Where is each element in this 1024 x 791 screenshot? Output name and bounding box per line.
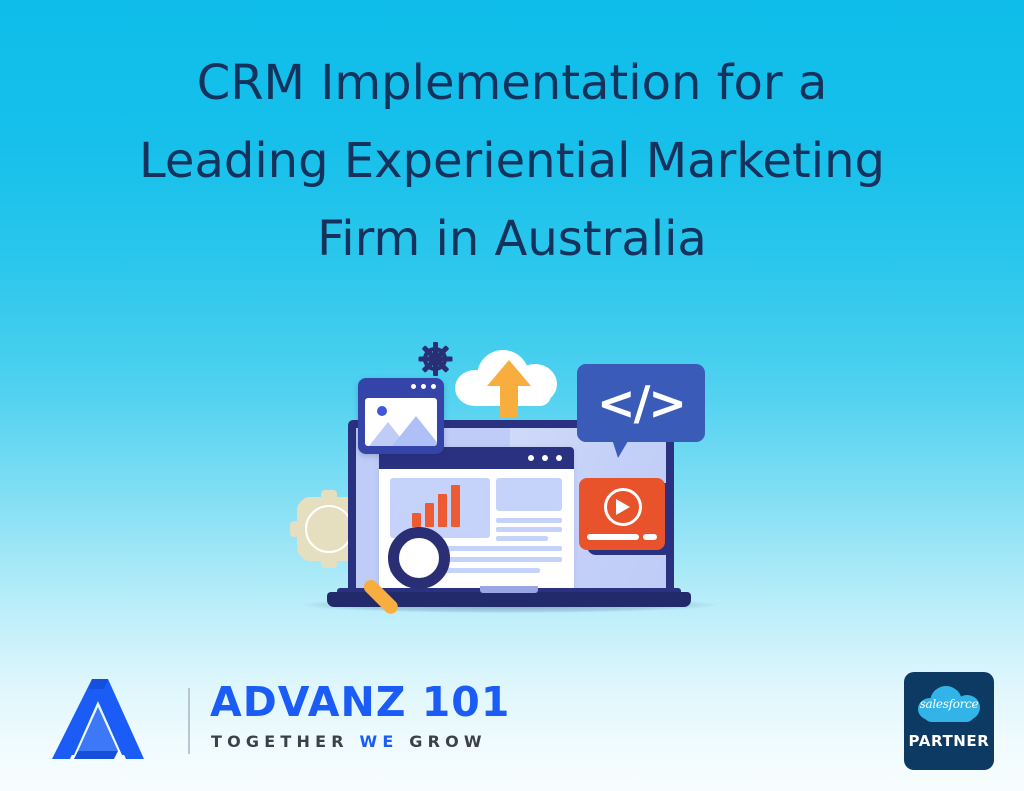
tagline-part-1: TOGETHER: [211, 732, 360, 751]
hero-illustration: </>: [280, 330, 740, 630]
logo-wordmark: ADVANZ 101: [210, 682, 510, 723]
window-dot-icon: [411, 384, 416, 389]
window-dot-icon: [556, 455, 562, 461]
window-dot-icon: [421, 384, 426, 389]
partner-label: PARTNER: [904, 734, 994, 749]
logo-divider: [188, 688, 190, 754]
upload-arrow-head: [487, 360, 531, 386]
image-card-titlebar: [358, 378, 444, 395]
slide-canvas: CRM Implementation for a Leading Experie…: [0, 0, 1024, 791]
title-line-2: Leading Experiential Marketing: [60, 122, 964, 200]
laptop-trackpad-notch: [480, 586, 538, 593]
advanz-logo: ADVANZ 101 TOGETHER WE GROW: [48, 672, 468, 770]
title-line-3: Firm in Australia: [60, 200, 964, 278]
advanz-a-mark-icon: [48, 677, 144, 765]
chart-bar: [425, 503, 434, 527]
salesforce-cloud-icon: salesforce: [918, 684, 980, 726]
cloud-upload-icon: [455, 346, 560, 408]
photo-icon: [365, 398, 437, 446]
photo-sun-shape: [377, 406, 387, 416]
progress-bar-track: [587, 534, 639, 540]
title-line-1: CRM Implementation for a: [60, 44, 964, 122]
gear-ring: [423, 347, 447, 371]
magnifier-lens: [388, 527, 450, 589]
gear-small-icon: [418, 342, 452, 376]
tagline-part-3: GROW: [399, 732, 487, 751]
tagline-part-we: WE: [360, 732, 399, 751]
salesforce-partner-badge: salesforce PARTNER: [904, 672, 994, 770]
logo-tagline: TOGETHER WE GROW: [211, 734, 487, 750]
video-card-icon: [579, 478, 665, 550]
upload-arrow-stem: [500, 384, 518, 418]
video-card-box: [579, 478, 665, 550]
gear-inner-ring: [305, 505, 353, 553]
page-title: CRM Implementation for a Leading Experie…: [60, 44, 964, 278]
image-card: [358, 378, 444, 454]
window-dot-icon: [542, 455, 548, 461]
salesforce-wordmark: salesforce: [918, 698, 980, 710]
text-line: [496, 536, 548, 541]
chart-bar: [438, 494, 447, 527]
code-bubble-label: </>: [577, 364, 705, 442]
code-bubble-icon: </>: [577, 364, 705, 448]
window-dot-icon: [528, 455, 534, 461]
window-dot-icon: [431, 384, 436, 389]
photo-mountain-shape: [392, 416, 437, 446]
magnifier-icon: [368, 525, 456, 613]
text-line: [496, 518, 562, 523]
content-block: [496, 478, 562, 511]
text-line: [496, 527, 562, 532]
play-icon: [616, 499, 630, 515]
chart-bar: [451, 485, 460, 527]
progress-bar-tail: [643, 534, 657, 540]
